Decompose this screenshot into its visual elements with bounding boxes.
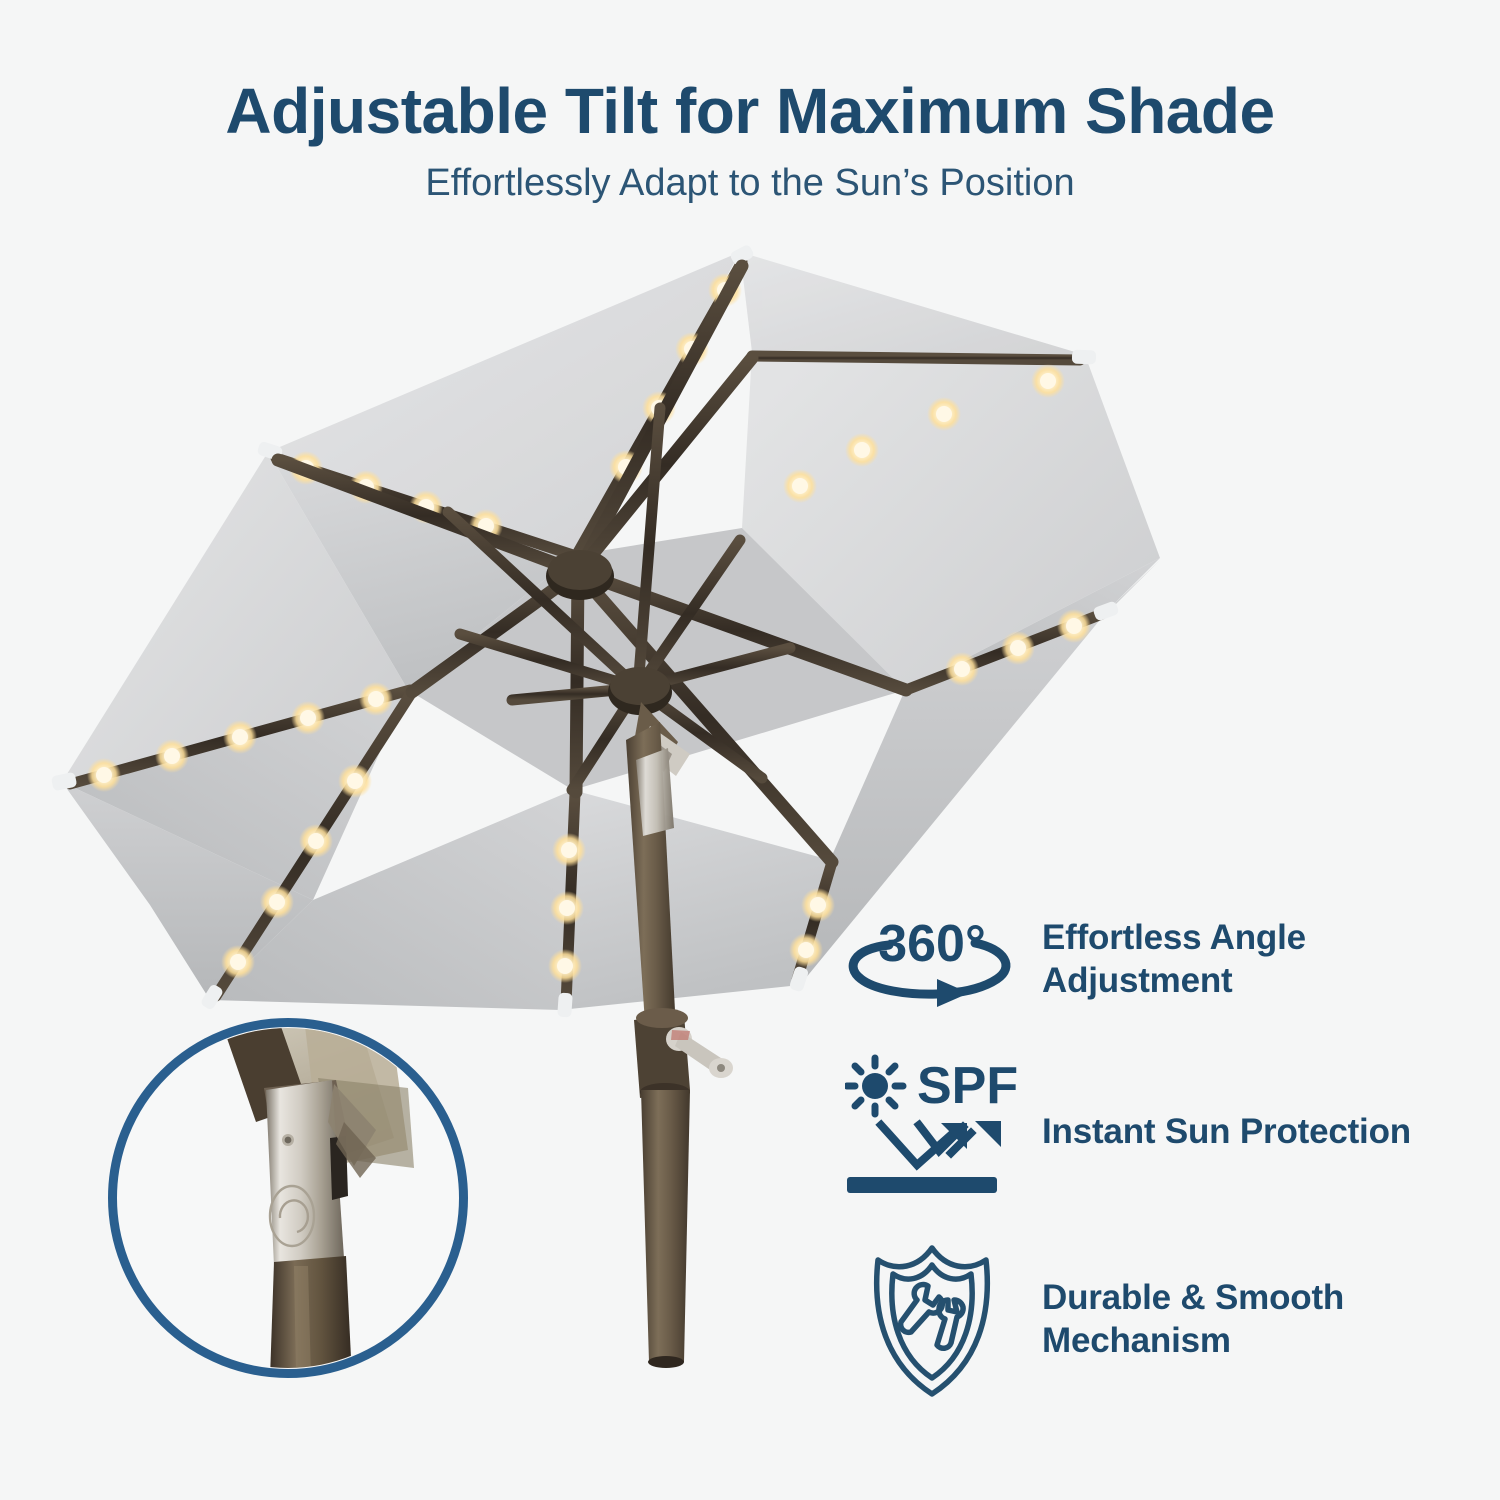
tilt-mechanism-detail: [108, 1018, 468, 1378]
upper-hub: [546, 550, 614, 600]
spf-sun-protection-icon: SPF: [845, 1053, 1020, 1213]
feature-line-2: Mechanism: [1042, 1320, 1344, 1363]
feature-label-durable-mechanism: Durable & Smooth Mechanism: [1042, 1277, 1344, 1362]
pole-bottom-cap: [648, 1356, 684, 1368]
feature-item-angle-adjustment: 360° Effortless Angle Adjustment: [845, 885, 1495, 1035]
feature-line-1: Durable & Smooth: [1042, 1277, 1344, 1320]
feature-item-sun-protection: SPF Instant Sun Protection: [845, 1045, 1495, 1220]
feature-line-1: Instant Sun Protection: [1042, 1111, 1411, 1154]
360-icon-svg: 360°: [845, 905, 1020, 1015]
360-degree-rotation-icon: 360°: [845, 905, 1020, 1015]
feature-list: 360° Effortless Angle Adjustment: [845, 885, 1495, 1420]
feature-line-2: Adjustment: [1042, 960, 1306, 1003]
feature-item-durable-mechanism: Durable & Smooth Mechanism: [845, 1230, 1495, 1410]
crank-housing: [634, 1008, 733, 1101]
shield-icon-svg: [866, 1238, 1016, 1403]
shield-wrench-icon: [853, 1238, 1028, 1403]
feature-label-angle-adjustment: Effortless Angle Adjustment: [1042, 917, 1306, 1002]
spf-icon-label: SPF: [917, 1057, 1018, 1115]
360-icon-label: 360°: [878, 915, 986, 973]
spf-icon-svg: SPF: [845, 1053, 1020, 1213]
product-feature-graphic: Adjustable Tilt for Maximum Shade Effort…: [0, 0, 1500, 1500]
feature-label-sun-protection: Instant Sun Protection: [1042, 1111, 1411, 1154]
tilt-mechanism-inset: [108, 1018, 468, 1378]
feature-line-1: Effortless Angle: [1042, 917, 1306, 960]
main-pole: [641, 1090, 690, 1362]
